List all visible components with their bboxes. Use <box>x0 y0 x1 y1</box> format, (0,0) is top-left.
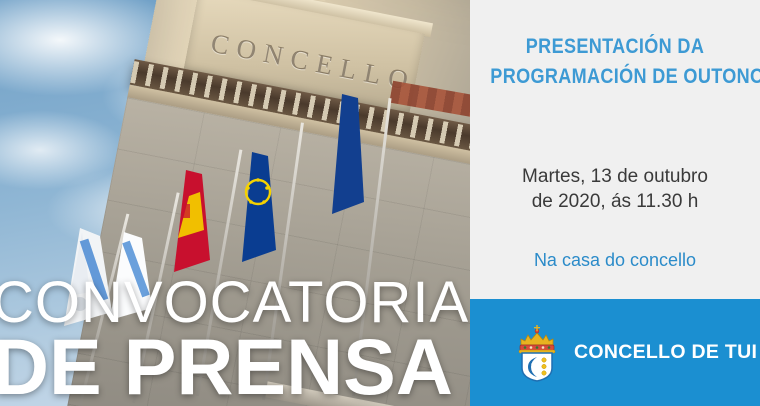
event-title-line-2: PROGRAMACIÓN DE OUTONO <box>490 62 739 92</box>
press-call-poster: CONCELLO <box>0 0 760 406</box>
window-hood <box>263 381 399 406</box>
event-location: Na casa do concello <box>470 250 760 271</box>
spain-flag <box>170 168 240 278</box>
event-title: PRESENTACIÓN DA PROGRAMACIÓN DE OUTONO <box>490 32 739 92</box>
event-datetime: Martes, 13 de outubro de 2020, ás 11.30 … <box>470 164 760 214</box>
shield-shape <box>522 353 552 381</box>
brand-name: CONCELLO DE TUI <box>574 341 757 364</box>
info-panel-top: PRESENTACIÓN DA PROGRAMACIÓN DE OUTONO M… <box>470 0 760 299</box>
brand-footer: CONCELLO DE TUI <box>470 299 760 406</box>
tui-coat-of-arms-icon <box>514 324 560 382</box>
event-date-line-2: de 2020, ás 11.30 h <box>470 189 760 214</box>
event-date-line-1: Martes, 13 de outubro <box>470 164 760 189</box>
info-panel: PRESENTACIÓN DA PROGRAMACIÓN DE OUTONO M… <box>470 0 760 406</box>
galician-flag-2 <box>108 230 178 330</box>
eu-flag <box>238 150 304 270</box>
eu-flag-2 <box>330 92 390 222</box>
event-title-line-1: PRESENTACIÓN DA <box>490 32 739 62</box>
crown-icon <box>519 325 555 353</box>
building-photo: CONCELLO <box>0 0 470 406</box>
